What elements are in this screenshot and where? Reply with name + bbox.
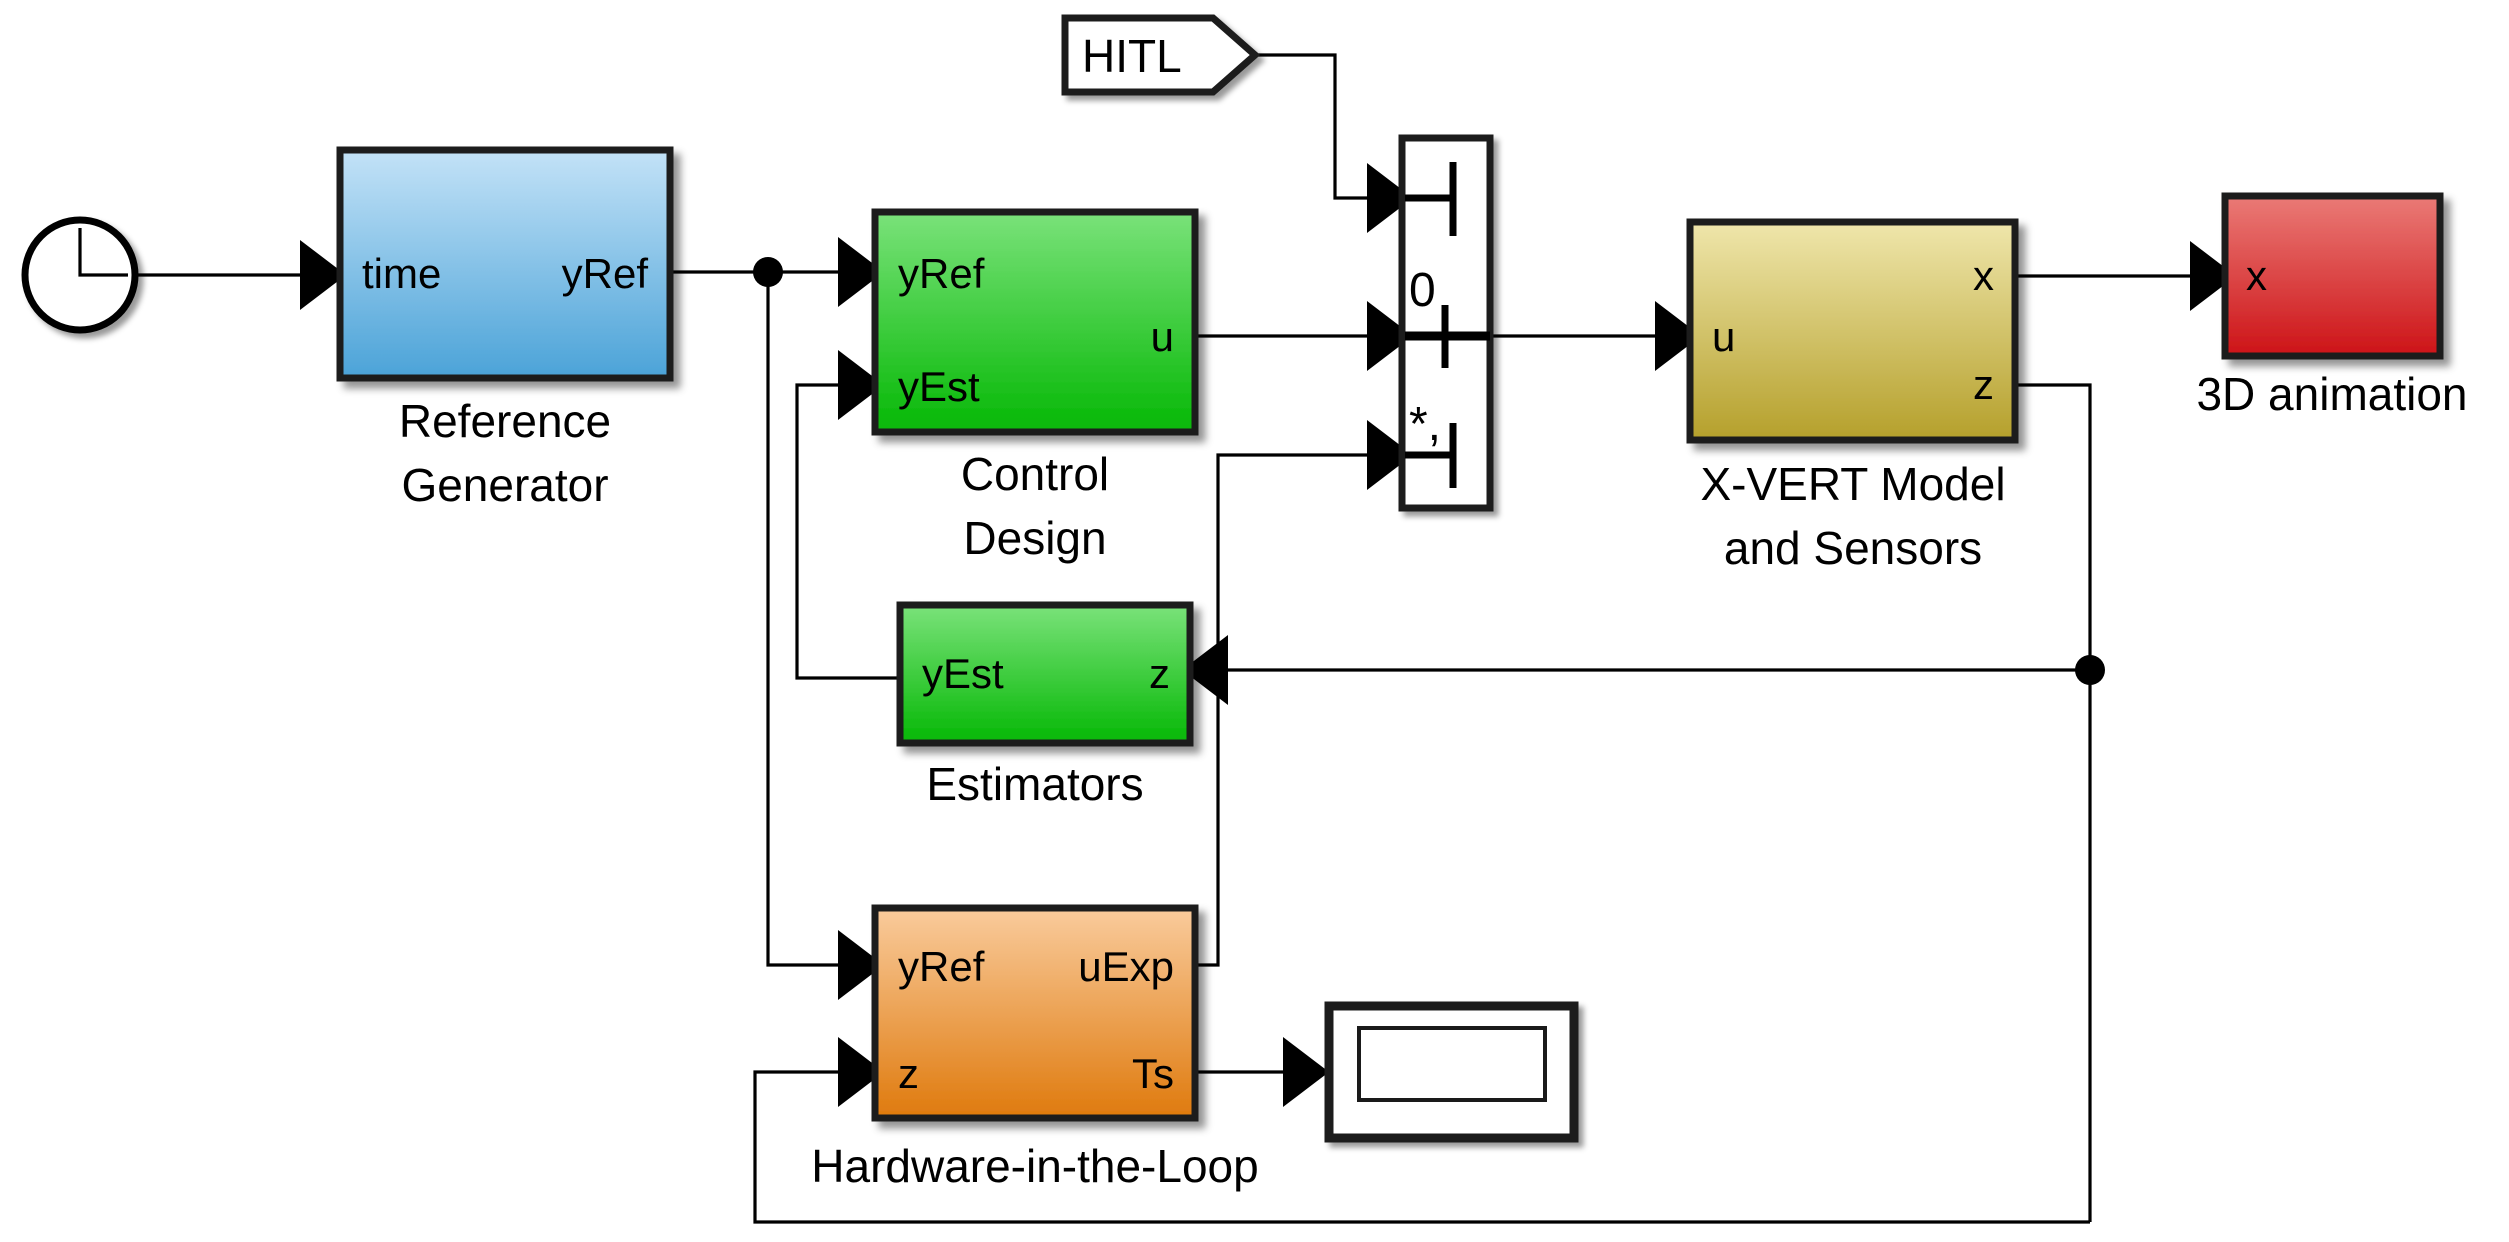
animation-3d-port-x: x: [2246, 252, 2267, 299]
xvert-model-port-x: x: [1973, 252, 1994, 299]
control-design-caption-line2: Design: [963, 512, 1106, 564]
display-screen: [1359, 1028, 1545, 1100]
switch-label-bottom: *,: [1409, 398, 1441, 451]
animation-3d-caption: 3D animation: [2196, 368, 2467, 420]
reference-generator-caption-line1: Reference: [399, 395, 611, 447]
reference-generator-block[interactable]: time yRef: [340, 150, 670, 378]
arrowhead-display-in: [1283, 1037, 1329, 1107]
junction-dot-z: [2075, 655, 2105, 685]
control-design-port-yest: yEst: [898, 363, 980, 410]
control-design-port-u: u: [1151, 313, 1174, 360]
junction-dot-yref: [753, 257, 783, 287]
reference-generator-caption-line2: Generator: [401, 459, 608, 511]
xvert-model-caption-line2: and Sensors: [1724, 522, 1982, 574]
hitl-tag-label: HITL: [1082, 30, 1182, 82]
estimators-block[interactable]: yEst z: [900, 605, 1190, 743]
animation-3d-block[interactable]: x: [2225, 196, 2440, 356]
switch-label-middle: 0: [1409, 264, 1436, 317]
reference-generator-port-time: time: [362, 250, 441, 297]
control-design-caption-line1: Control: [961, 448, 1109, 500]
estimators-port-yest: yEst: [922, 650, 1004, 697]
wire-yref-to-hitl: [768, 272, 838, 965]
control-design-block[interactable]: yRef yEst u: [875, 212, 1195, 432]
wire-hitl-tag-to-switch: [1255, 55, 1367, 198]
xvert-model-block[interactable]: u x z: [1690, 222, 2015, 440]
xvert-model-caption-line1: X-VERT Model: [1700, 458, 2005, 510]
clock-source-block[interactable]: [25, 220, 135, 330]
hitl-port-z: z: [898, 1050, 919, 1097]
control-design-port-yref: yRef: [898, 250, 985, 297]
estimators-port-z: z: [1149, 650, 1170, 697]
hitl-port-yref: yRef: [898, 943, 985, 990]
simulink-canvas: time yRef Reference Generator yRef yEst …: [0, 0, 2509, 1242]
hitl-tag-block[interactable]: HITL: [1065, 18, 1255, 92]
manual-switch-block[interactable]: 0 *,: [1402, 138, 1490, 508]
xvert-model-port-z: z: [1973, 361, 1994, 408]
hitl-port-ts: Ts: [1132, 1050, 1174, 1097]
estimators-caption: Estimators: [926, 758, 1143, 810]
wire-uexp-to-switch: [1195, 455, 1367, 965]
wire-z-bus: [2015, 385, 2090, 1222]
hardware-in-the-loop-block[interactable]: yRef z uExp Ts: [875, 908, 1195, 1118]
hardware-in-the-loop-caption: Hardware-in-the-Loop: [811, 1140, 1258, 1192]
hitl-port-uexp: uExp: [1078, 943, 1174, 990]
xvert-model-body: [1690, 222, 2015, 440]
xvert-model-port-u: u: [1712, 313, 1735, 360]
reference-generator-port-yref: yRef: [562, 250, 649, 297]
display-block[interactable]: [1329, 1006, 1574, 1138]
